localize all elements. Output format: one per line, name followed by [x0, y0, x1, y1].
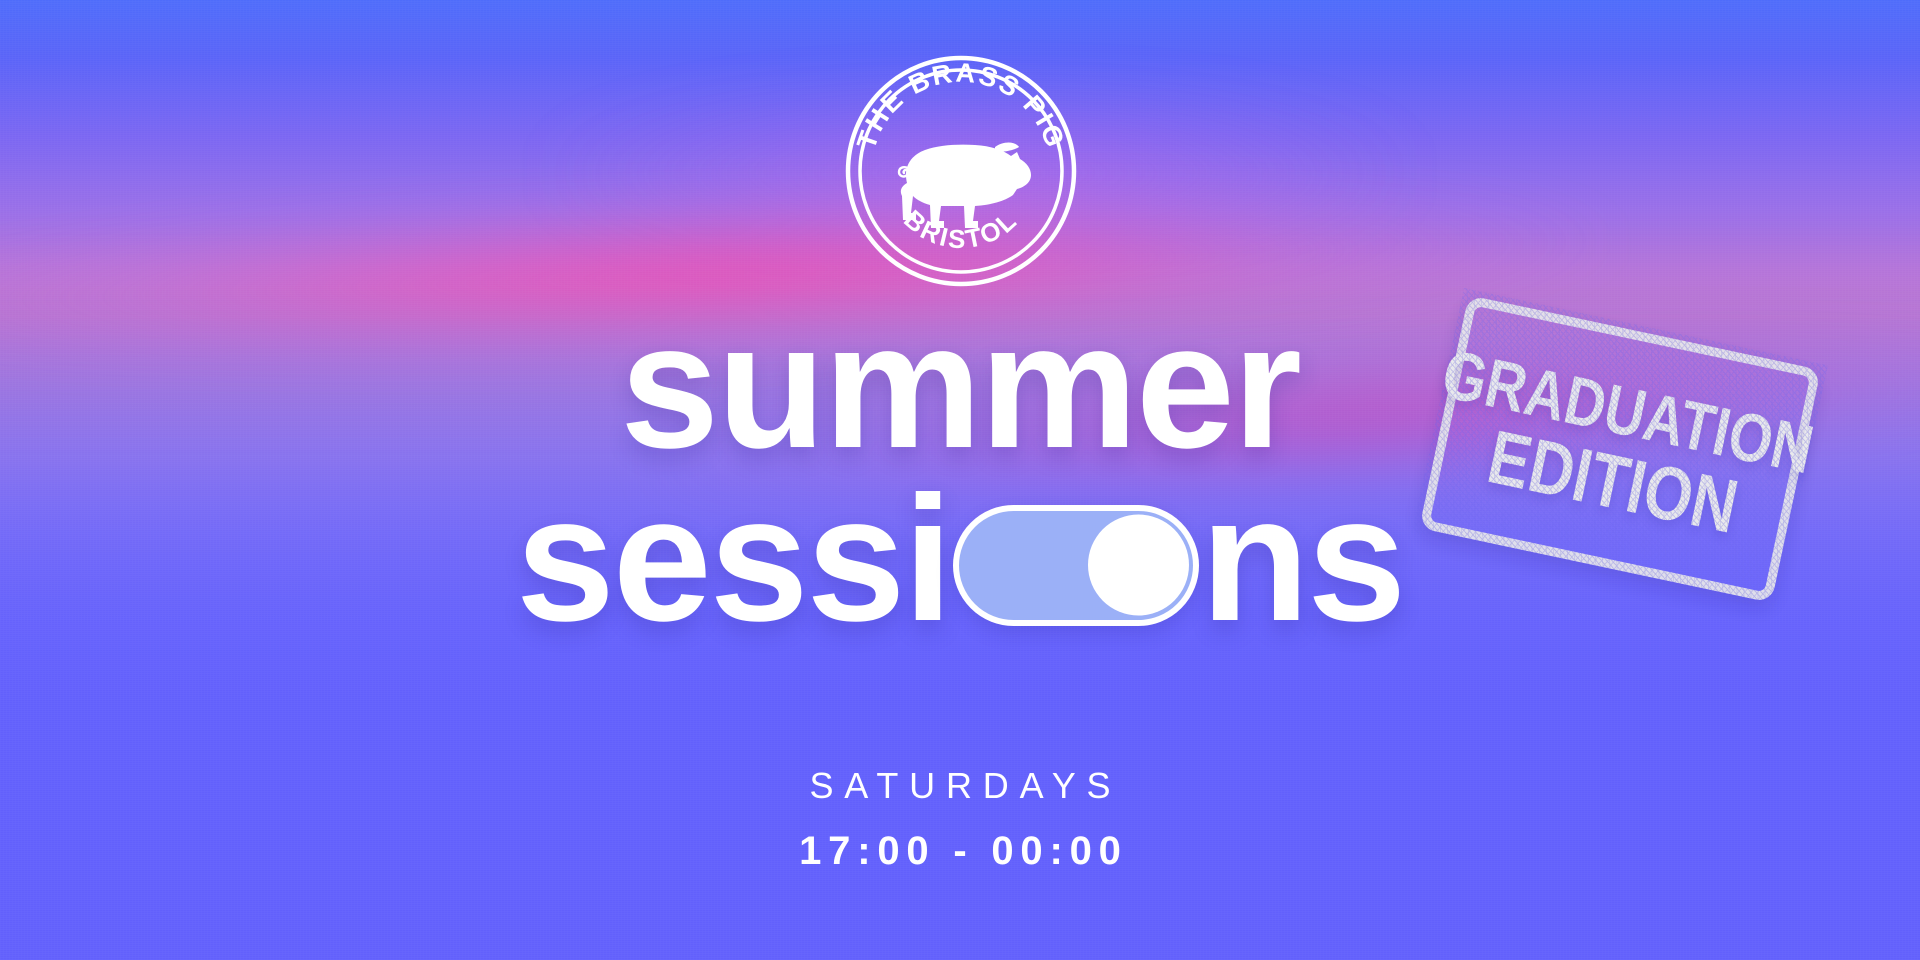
event-details: SATURDAYS 17:00 - 00:00	[0, 765, 1920, 874]
headline-sessions-suffix: ns	[1201, 459, 1404, 658]
toggle-knob[interactable]	[1088, 515, 1189, 616]
logo-top-arc-text: THE BRASS PIG	[851, 58, 1071, 153]
event-day: SATURDAYS	[0, 765, 1920, 807]
event-time: 17:00 - 00:00	[0, 829, 1920, 874]
logo-bottom-arc-text: BRISTOL	[898, 204, 1023, 254]
event-poster: THE BRASS PIG BRISTOL summer sessi ns	[0, 0, 1920, 960]
headline-sessions-prefix: sessi	[516, 459, 951, 658]
brass-pig-logo: THE BRASS PIG BRISTOL	[845, 55, 1077, 287]
toggle-switch-letter-o[interactable]	[953, 505, 1199, 626]
